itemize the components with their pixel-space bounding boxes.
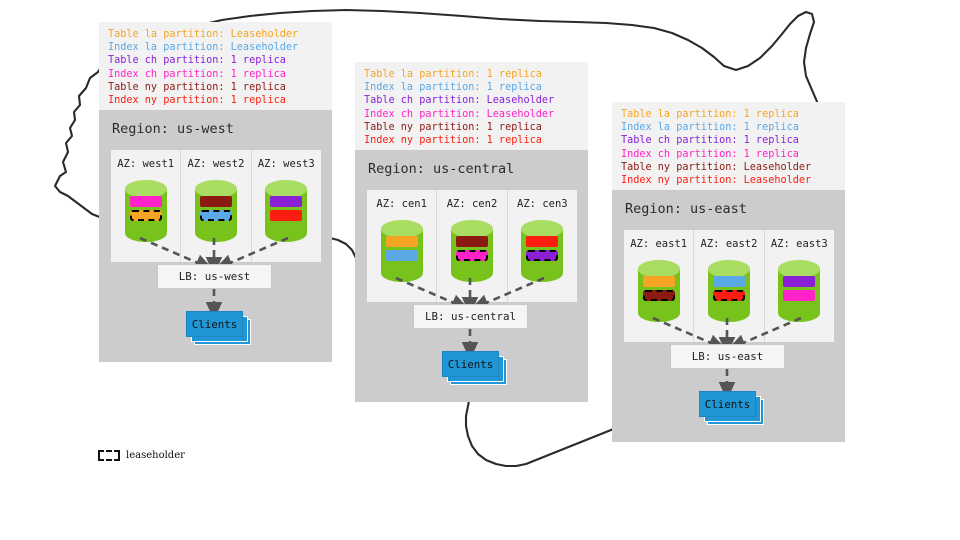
partition-bar-leaseholder xyxy=(200,210,232,221)
legend: leaseholder xyxy=(98,450,185,461)
config-line: Table ch partition: Leaseholder xyxy=(364,94,579,107)
partition-bars xyxy=(200,196,232,221)
node-cylinder[interactable] xyxy=(193,179,239,243)
load-balancer-us-west[interactable]: LB: us-west xyxy=(157,264,272,289)
partition-bar-leaseholder xyxy=(456,250,488,261)
az-cell-west2[interactable]: AZ: west2 xyxy=(181,150,251,262)
az-row-us-east: AZ: east1 AZ: east2 xyxy=(624,230,834,342)
az-cell-east1[interactable]: AZ: east1 xyxy=(624,230,694,342)
az-cell-east2[interactable]: AZ: east2 xyxy=(694,230,764,342)
partition-bars xyxy=(643,276,675,301)
clients-us-east[interactable]: Clients xyxy=(699,391,765,426)
partition-bar xyxy=(783,290,815,301)
partition-bar-leaseholder xyxy=(643,290,675,301)
partition-bar xyxy=(526,236,558,247)
az-cell-east3[interactable]: AZ: east3 xyxy=(765,230,834,342)
config-line: Table la partition: 1 replica xyxy=(364,68,579,81)
az-cell-cen2[interactable]: AZ: cen2 xyxy=(437,190,507,302)
config-box-us-west: Table la partition: Leaseholder Index la… xyxy=(99,22,332,110)
config-line: Index ch partition: 1 replica xyxy=(621,148,836,161)
az-cell-west3[interactable]: AZ: west3 xyxy=(252,150,321,262)
az-label: AZ: cen2 xyxy=(447,198,498,210)
node-cylinder[interactable] xyxy=(636,259,682,323)
node-cylinder[interactable] xyxy=(379,219,425,283)
config-line: Index ch partition: 1 replica xyxy=(108,68,323,81)
config-line: Index ny partition: 1 replica xyxy=(364,134,579,147)
partition-bar-leaseholder xyxy=(526,250,558,261)
az-label: AZ: cen1 xyxy=(376,198,427,210)
clients-box[interactable]: Clients xyxy=(186,311,243,337)
az-row-us-central: AZ: cen1 AZ: cen2 xyxy=(367,190,577,302)
config-line: Index la partition: Leaseholder xyxy=(108,41,323,54)
config-line: Index ny partition: Leaseholder xyxy=(621,174,836,187)
diagram-stage: Table la partition: Leaseholder Index la… xyxy=(0,0,960,540)
partition-bar xyxy=(200,196,232,207)
clients-us-central[interactable]: Clients xyxy=(442,351,508,386)
config-line: Index la partition: 1 replica xyxy=(621,121,836,134)
partition-bars xyxy=(713,276,745,301)
partition-bar-leaseholder xyxy=(713,290,745,301)
config-line: Index ny partition: 1 replica xyxy=(108,94,323,107)
partition-bar xyxy=(270,210,302,221)
az-label: AZ: west1 xyxy=(117,158,174,170)
config-line: Table ny partition: 1 replica xyxy=(364,121,579,134)
partition-bar xyxy=(386,250,418,261)
az-cell-cen1[interactable]: AZ: cen1 xyxy=(367,190,437,302)
region-title: Region: us-central xyxy=(355,150,588,177)
config-line: Table ch partition: 1 replica xyxy=(621,134,836,147)
clients-box[interactable]: Clients xyxy=(442,351,499,377)
config-line: Table ch partition: 1 replica xyxy=(108,54,323,67)
region-title: Region: us-west xyxy=(99,110,332,137)
node-cylinder[interactable] xyxy=(776,259,822,323)
partition-bars xyxy=(270,196,302,221)
load-balancer-us-central[interactable]: LB: us-central xyxy=(413,304,528,329)
config-line: Table ny partition: 1 replica xyxy=(108,81,323,94)
partition-bar-leaseholder xyxy=(130,210,162,221)
partition-bars xyxy=(386,236,418,261)
partition-bars xyxy=(130,196,162,221)
config-line: Index la partition: 1 replica xyxy=(364,81,579,94)
config-line: Table la partition: Leaseholder xyxy=(108,28,323,41)
region-title: Region: us-east xyxy=(612,190,845,217)
partition-bars xyxy=(526,236,558,261)
legend-label: leaseholder xyxy=(126,450,185,461)
partition-bar xyxy=(386,236,418,247)
az-label: AZ: cen3 xyxy=(517,198,568,210)
config-line: Index ch partition: Leaseholder xyxy=(364,108,579,121)
node-cylinder[interactable] xyxy=(519,219,565,283)
load-balancer-us-east[interactable]: LB: us-east xyxy=(670,344,785,369)
az-label: AZ: west3 xyxy=(258,158,315,170)
az-label: AZ: west2 xyxy=(188,158,245,170)
partition-bar xyxy=(643,276,675,287)
clients-box[interactable]: Clients xyxy=(699,391,756,417)
clients-us-west[interactable]: Clients xyxy=(186,311,252,346)
az-label: AZ: east2 xyxy=(701,238,758,250)
partition-bars xyxy=(456,236,488,261)
partition-bar xyxy=(270,196,302,207)
az-label: AZ: east1 xyxy=(630,238,687,250)
az-cell-west1[interactable]: AZ: west1 xyxy=(111,150,181,262)
az-row-us-west: AZ: west1 AZ: west2 xyxy=(111,150,321,262)
config-box-us-east: Table la partition: 1 replica Index la p… xyxy=(612,102,845,190)
node-cylinder[interactable] xyxy=(263,179,309,243)
partition-bar xyxy=(783,276,815,287)
node-cylinder[interactable] xyxy=(706,259,752,323)
az-cell-cen3[interactable]: AZ: cen3 xyxy=(508,190,577,302)
az-label: AZ: east3 xyxy=(771,238,828,250)
node-cylinder[interactable] xyxy=(123,179,169,243)
config-box-us-central: Table la partition: 1 replica Index la p… xyxy=(355,62,588,150)
dashed-rect-icon xyxy=(98,450,120,461)
partition-bars xyxy=(783,276,815,301)
node-cylinder[interactable] xyxy=(449,219,495,283)
partition-bar xyxy=(130,196,162,207)
partition-bar xyxy=(456,236,488,247)
partition-bar xyxy=(713,276,745,287)
config-line: Table la partition: 1 replica xyxy=(621,108,836,121)
config-line: Table ny partition: Leaseholder xyxy=(621,161,836,174)
